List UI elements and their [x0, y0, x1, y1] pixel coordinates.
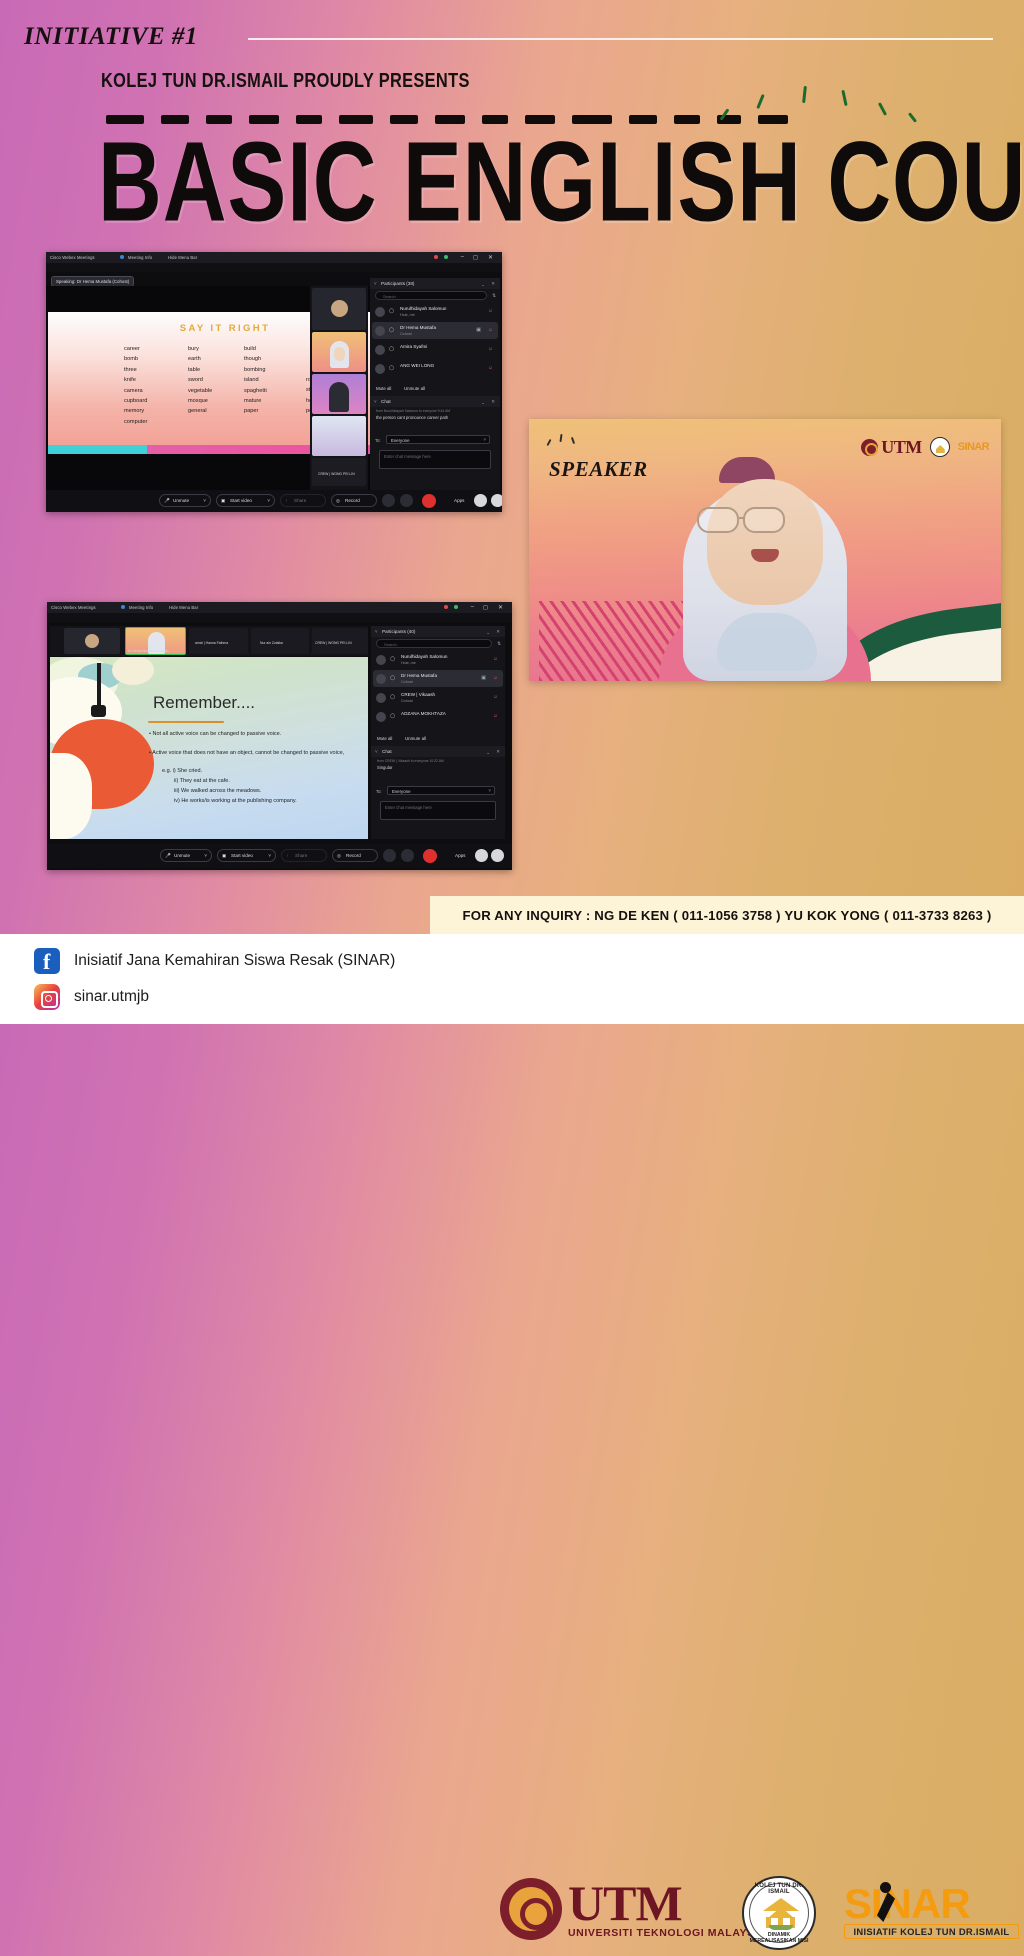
wx1-thumb-3[interactable]	[312, 374, 366, 414]
close-panel-icon[interactable]: ✕	[496, 629, 500, 635]
avatar	[375, 307, 385, 317]
wx1-search-placeholder: Search	[383, 294, 396, 299]
avatar	[375, 326, 385, 336]
wx1-thumb-1[interactable]	[312, 288, 366, 330]
slide1-word: earth	[188, 354, 212, 364]
wx1-titlebar: Cisco Webex Meetings Meeting Info Hide M…	[46, 252, 502, 263]
participant-name: CREW | Vikaash	[401, 692, 435, 697]
popout-icon[interactable]: ⎵	[482, 399, 484, 404]
wx1-window-title: Cisco Webex Meetings	[50, 255, 95, 260]
facebook-handle: Inisiatif Jana Kemahiran Siswa Resak (SI…	[74, 952, 395, 970]
wx1-participants-title: Participants (38)	[381, 281, 414, 286]
chevron-down-icon[interactable]: ˅	[374, 281, 377, 286]
participant-name: Amira Syafmi	[400, 344, 427, 349]
mic-muted-icon: ☺	[493, 656, 498, 662]
wx2-to-label: To:	[376, 789, 382, 794]
wx2-record-dot-icon	[444, 605, 448, 609]
participant-name: Nurulhidayah Salomun	[400, 306, 446, 311]
chevron-down-icon[interactable]: ˅	[267, 498, 270, 503]
chevron-down-icon: ˅	[483, 437, 486, 442]
wx1-leave-button[interactable]	[422, 494, 436, 508]
page-title: BASIC ENGLISH COURSE	[98, 126, 1024, 239]
raise-hand-icon: ◯	[389, 308, 394, 314]
wx2-thumb-4-caption: Nur ain Zulaika	[260, 641, 283, 645]
raise-hand-icon: ◯	[389, 365, 394, 371]
slide2-blob-cream2	[112, 657, 154, 685]
slide1-word: mosque	[188, 396, 212, 406]
wx2-chat-header: ˅ Chat ⎵ ✕	[371, 746, 505, 757]
instagram-icon[interactable]	[34, 984, 60, 1010]
wx2-more-button[interactable]	[401, 849, 414, 862]
wx2-record-button[interactable]: ◎ Record	[332, 849, 378, 862]
slide1-column-3: buildthoughbombingislandspaghettimaturep…	[244, 344, 267, 417]
slide2-blob-white2	[50, 753, 92, 839]
spark-decoration	[715, 82, 915, 134]
popout-icon[interactable]: ⎵	[482, 281, 484, 286]
initiative-label: INITIATIVE #1	[24, 23, 198, 51]
wx2-recipient-select[interactable]: Everyone ˅	[387, 786, 495, 795]
raise-hand-icon: ◯	[390, 713, 395, 719]
footer: Inisiatif Jana Kemahiran Siswa Resak (SI…	[0, 934, 1024, 1024]
microphone-icon: 🎤	[164, 498, 170, 504]
slide2-bullet-1: • Not all active voice can be changed to…	[149, 730, 359, 738]
raise-hand-icon: ◯	[389, 346, 394, 352]
participant-role: Cohost	[401, 680, 413, 684]
minimize-icon[interactable]: –	[461, 254, 464, 260]
wx2-participants-title: Participants (40)	[382, 629, 415, 634]
wx2-window-title: Cisco Webex Meetings	[51, 605, 96, 610]
wx2-chat-input-placeholder: Enter chat message here	[385, 805, 432, 810]
wx1-chat-header: ˅ Chat ⎵ ✕	[370, 396, 500, 407]
inquiry-bar: FOR ANY INQUIRY : NG DE KEN ( 011-1056 3…	[430, 896, 1024, 934]
chevron-down-icon: ˅	[488, 788, 491, 793]
wx2-thumb-5[interactable]: CREW | WONG PEI LIN	[312, 628, 368, 654]
inquiry-text: FOR ANY INQUIRY : NG DE KEN ( 011-1056 3…	[462, 908, 991, 923]
speaker-card: SPEAKER UTM SINAR	[529, 419, 1001, 681]
presents-line: KOLEJ TUN DR.ISMAIL PROUDLY PRESENTS	[101, 70, 470, 93]
chevron-down-icon[interactable]: ˅	[375, 629, 378, 634]
wx2-thumb-1[interactable]	[64, 628, 120, 654]
wx2-participants-button[interactable]	[475, 849, 488, 862]
spark-5	[878, 102, 887, 116]
slide1-word: though	[244, 354, 267, 364]
wx2-search-input[interactable]: Search	[376, 639, 492, 648]
instagram-handle: sinar.utmjb	[74, 988, 149, 1006]
wx2-side-panel: ˅ Participants (40) ⎵ ✕ Search ⇅ ◯Nurulh…	[371, 626, 505, 839]
wx2-thumb-5-caption: CREW | WONG PEI LIN	[315, 641, 352, 645]
utm-logo-small: UTM	[861, 437, 922, 458]
sinar-tagline: INISIATIF KOLEJ TUN DR.ISMAIL	[844, 1924, 1019, 1939]
close-panel-icon[interactable]: ✕	[491, 281, 495, 287]
slide1-word: memory	[124, 406, 147, 416]
spark-tick-2	[559, 434, 562, 442]
wx2-menubar	[47, 613, 512, 622]
wx2-thumb-2-active[interactable]: Dr Hema Mustafa (Cohost)	[125, 627, 186, 655]
wx2-thumb-3[interactable]: amizi | Hanna Fathma	[189, 628, 248, 654]
eyeglasses-left-icon	[697, 507, 739, 533]
wx1-record-dot-icon	[434, 255, 438, 259]
eyeglasses-bridge	[739, 517, 745, 519]
wx2-toolbar: 🎤 Unmute ˅ ▣ Start video ˅ ↑ Share ◎ Rec…	[47, 844, 512, 868]
slide2-stick-base	[91, 705, 106, 717]
avatar	[376, 674, 386, 684]
wx2-start-video-button[interactable]: ▣ Start video ˅	[217, 849, 276, 862]
wx1-meeting-info[interactable]: Meeting Info	[128, 255, 152, 260]
camera-icon: ▣	[222, 853, 226, 859]
participant-role: Cohost	[400, 332, 412, 336]
speaker-label: SPEAKER	[549, 457, 648, 482]
utm-subtitle: UNIVERSITI TEKNOLOGI MALAYSIA	[568, 1927, 766, 1939]
slide2-example-1: e.g. i) She cried.	[162, 767, 202, 775]
slide2-example-3: iii) We walked across the meadows.	[174, 787, 261, 795]
eyeglasses-right-icon	[743, 507, 785, 533]
wx1-hide-menu-bar[interactable]: Hide Menu Bar	[168, 255, 197, 260]
mic-muted-icon: ☺	[493, 713, 498, 719]
slide1-word: paper	[244, 406, 267, 416]
wx2-reactions-button[interactable]	[383, 849, 396, 862]
wx1-apps-button[interactable]: Apps	[454, 498, 464, 503]
mic-muted-icon: ☺	[493, 675, 498, 681]
wx1-chat-title: Chat	[381, 399, 391, 404]
slide1-word: bury	[188, 344, 212, 354]
wx1-chat-message: the person cant pronounce career path	[376, 415, 491, 421]
wx1-chat-button[interactable]	[491, 494, 502, 507]
participant-role: Host, me	[400, 313, 415, 317]
slide1-word: vegetable	[188, 386, 212, 396]
mic-muted-icon: ☺	[488, 346, 493, 352]
slide1-word: table	[188, 365, 212, 375]
wx1-reactions-button[interactable]	[382, 494, 395, 507]
popout-icon[interactable]: ⎵	[487, 629, 489, 634]
wx2-share-button[interactable]: ↑ Share	[281, 849, 327, 862]
wx1-recipient-select[interactable]: Everyone ˅	[386, 435, 490, 444]
slide1-word: island	[244, 375, 267, 385]
sinar-logo: SINAR INISIATIF KOLEJ TUN DR.ISMAIL	[844, 1884, 1019, 1942]
video-icon: ▣	[481, 675, 486, 681]
wx1-record-button[interactable]: ◎ Record	[331, 494, 377, 507]
wx2-chat-input[interactable]: Enter chat message here	[380, 801, 496, 820]
participant-name: ANG WEI LONG	[400, 363, 434, 368]
raise-hand-icon: ◯	[390, 656, 395, 662]
chevron-down-icon[interactable]: ˅	[374, 399, 377, 404]
slide1-column-1: careerbombthreeknifecameracupboardmemory…	[124, 344, 147, 427]
wx1-menubar	[46, 263, 502, 272]
wx2-status-dot-icon	[454, 605, 458, 609]
slide1-word: computer	[124, 417, 147, 427]
participant-name: ADZANA MOKHTAZA	[401, 711, 446, 716]
slide1-word: three	[124, 365, 147, 375]
wx2-chat-meta: from CREW | Vikaash to everyone 10:22 AM	[377, 759, 444, 763]
wx1-mute-all-button[interactable]: Mute all	[376, 386, 391, 391]
participant-row[interactable]: ◯Nurulhidayah SalomunHost, me☺	[372, 303, 498, 320]
spark-3	[802, 86, 807, 103]
wx1-chat-meta: from Nurulhidayah Salomun to everyone 9:…	[376, 409, 450, 413]
wx1-participants-header: ˅ Participants (38) ⎵ ✕	[370, 278, 500, 289]
ktdi-book-icon	[769, 1925, 793, 1930]
video-icon: ▣	[476, 327, 481, 333]
wx2-meeting-info[interactable]: Meeting Info	[129, 605, 153, 610]
speaker-scarf	[717, 613, 817, 671]
speaker-portrait	[659, 451, 871, 681]
wx1-chat-input[interactable]: Enter chat message here	[379, 450, 491, 469]
camera-icon: ▣	[221, 498, 225, 504]
utm-seal-icon	[861, 439, 878, 456]
instagram-row[interactable]: sinar.utmjb	[34, 984, 149, 1010]
minimize-icon[interactable]: –	[471, 604, 474, 610]
header-rule	[248, 38, 993, 40]
webex-screenshot-2: Cisco Webex Meetings Meeting Info Hide M…	[47, 602, 512, 870]
utm-wordmark-small: UTM	[881, 437, 922, 458]
slide2-example-4: iv) He works/is working at the publishin…	[174, 797, 362, 805]
wx2-thumb-2-caption: Dr Hema Mustafa (Cohost)	[128, 649, 169, 653]
participant-name: Dr Hema Mustafa	[401, 673, 437, 678]
wx1-video-rail: CREW | WONG PEI LIN	[310, 286, 368, 490]
slide1-word: build	[244, 344, 267, 354]
participant-role: Host, me	[401, 661, 416, 665]
chevron-down-icon[interactable]: ˅	[268, 853, 271, 858]
close-panel-icon[interactable]: ✕	[496, 749, 500, 755]
close-icon[interactable]: ✕	[488, 254, 493, 261]
slide1-word: spaghetti	[244, 386, 267, 396]
participant-row[interactable]: ◯Amira Syafmi☺	[372, 341, 498, 358]
wx1-search-input[interactable]: Search	[375, 291, 487, 300]
webex-screenshot-1: Cisco Webex Meetings Meeting Info Hide M…	[46, 252, 502, 512]
sinar-wordmark: SINAR	[844, 1884, 1019, 1924]
wx2-chat-title: Chat	[382, 749, 392, 754]
mic-muted-icon: ☺	[488, 327, 493, 333]
slide1-word: career	[124, 344, 147, 354]
slide2-stick	[97, 663, 101, 711]
slide1-word: sword	[188, 375, 212, 385]
spark-4	[841, 90, 847, 106]
wx2-hide-menu-bar[interactable]: Hide Menu Bar	[169, 605, 198, 610]
record-icon: ◎	[336, 498, 340, 504]
wx1-info-icon	[120, 255, 124, 259]
utm-seal-icon	[500, 1878, 562, 1940]
sort-icon[interactable]: ⇅	[492, 293, 496, 299]
wx1-unmute-all-button[interactable]: Unmute all	[404, 386, 425, 391]
mic-muted-icon: ☺	[488, 308, 493, 314]
speaker-mouth	[751, 549, 779, 562]
ktdi-top-text: KOLEJ TUN DR. ISMAIL	[744, 1883, 814, 1895]
slide1-word: knife	[124, 375, 147, 385]
slide1-column-2: buryearthtableswordvegetablemosquegenera…	[188, 344, 212, 417]
wx1-thumb-5[interactable]: CREW | WONG PEI LIN	[312, 458, 366, 486]
participant-row[interactable]: ◯Dr Hema MustafaCohost▣☺	[372, 322, 498, 339]
slide1-word: camera	[124, 386, 147, 396]
wx2-chat-message: Singular	[377, 765, 495, 771]
wx1-to-label: To:	[375, 438, 381, 443]
wx1-participants-button[interactable]	[474, 494, 487, 507]
popout-icon[interactable]: ⎵	[487, 749, 489, 754]
spark-tick-1	[546, 439, 551, 446]
avatar	[376, 712, 386, 722]
ktdi-house-icon	[763, 1898, 799, 1928]
raise-hand-icon: ◯	[389, 327, 394, 333]
participant-row[interactable]: ◯ADZANA MOKHTAZA☺	[373, 708, 503, 725]
sort-icon[interactable]: ⇅	[497, 641, 501, 647]
avatar	[376, 693, 386, 703]
poster-header: INITIATIVE #1 KOLEJ TUN DR.ISMAIL PROUDL…	[0, 0, 1024, 250]
wx2-participants-header: ˅ Participants (40) ⎵ ✕	[371, 626, 505, 637]
spark-tick-3	[571, 437, 575, 444]
chevron-down-icon[interactable]: ˅	[375, 749, 378, 754]
utm-logo: UTM UNIVERSITI TEKNOLOGI MALAYSIA	[500, 1878, 766, 1940]
wx2-unmute-button[interactable]: 🎤 Unmute ˅	[160, 849, 212, 862]
close-icon[interactable]: ✕	[498, 604, 503, 611]
wx2-search-placeholder: Search	[384, 642, 397, 647]
slide2-bullet-2: • Active voice that does not have an obj…	[149, 749, 359, 757]
wx1-recipient-value: Everyone	[391, 438, 410, 443]
share-icon: ↑	[286, 853, 288, 858]
wx2-shared-slide: Remember.... • Not all active voice can …	[50, 657, 368, 839]
wx2-recipient-value: Everyone	[392, 789, 411, 794]
ktdi-bottom-text: DINAMIK MEREALISASIKAN MISI	[744, 1932, 814, 1944]
ktdi-seal-icon-small	[930, 437, 950, 457]
facebook-icon[interactable]	[34, 948, 60, 974]
spark-1	[720, 108, 730, 120]
speaker-face	[707, 479, 823, 605]
wx2-thumb-4[interactable]: Nur ain Zulaika	[251, 628, 309, 654]
record-icon: ◎	[337, 853, 341, 859]
slide1-word: mature	[244, 396, 267, 406]
wx2-info-icon	[121, 605, 125, 609]
speaker-card-logos: UTM SINAR	[861, 435, 989, 459]
chevron-down-icon[interactable]: ˅	[204, 853, 207, 858]
share-icon: ↑	[285, 498, 287, 503]
wx1-thumb-2-speaker[interactable]	[312, 332, 366, 372]
avatar	[375, 364, 385, 374]
utm-wordmark: UTM	[568, 1879, 766, 1927]
slide1-word: bombing	[244, 365, 267, 375]
wx2-unmute-all-button[interactable]: Unmute all	[405, 736, 426, 741]
slide2-rule	[148, 721, 224, 723]
microphone-icon: 🎤	[165, 853, 171, 859]
mic-muted-icon: ☺	[488, 365, 493, 371]
wx1-toolbar: 🎤 Unmute ˅ ▣ Start video ˅ ↑ Share ◎ Rec…	[46, 490, 502, 512]
facebook-row[interactable]: Inisiatif Jana Kemahiran Siswa Resak (SI…	[34, 948, 395, 974]
wx2-leave-button[interactable]	[423, 849, 437, 863]
wx2-chat-button[interactable]	[491, 849, 504, 862]
participant-role: Cohost	[401, 699, 413, 703]
slide2-example-2: ii) They eat at the cafe.	[174, 777, 230, 785]
participant-row[interactable]: ◯ANG WEI LONG☺	[372, 360, 498, 377]
mic-muted-icon: ☺	[493, 694, 498, 700]
wx2-mute-all-button[interactable]: Mute all	[377, 736, 392, 741]
raise-hand-icon: ◯	[390, 675, 395, 681]
wx2-apps-button[interactable]: Apps	[455, 853, 465, 858]
wx1-more-button[interactable]	[400, 494, 413, 507]
close-panel-icon[interactable]: ✕	[491, 399, 495, 405]
sinar-wordmark-small: SINAR	[958, 441, 989, 453]
slide2-title: Remember....	[153, 693, 255, 713]
avatar	[376, 655, 386, 665]
wx1-status-dot-icon	[444, 255, 448, 259]
wx1-thumb-5-caption: CREW | WONG PEI LIN	[318, 472, 355, 476]
spark-2	[756, 94, 764, 109]
slide1-word: cupboard	[124, 396, 147, 406]
wx2-thumb-strip: Dr Hema Mustafa (Cohost) amizi | Hanna F…	[50, 626, 368, 656]
footer-logos: UTM UNIVERSITI TEKNOLOGI MALAYSIA KOLEJ …	[492, 1872, 1024, 1956]
ktdi-logo: KOLEJ TUN DR. ISMAIL DINAMIK MEREALISASI…	[742, 1876, 816, 1950]
wx1-start-video-button[interactable]: ▣ Start video ˅	[216, 494, 275, 507]
participant-name: Dr Hema Mustafa	[400, 325, 436, 330]
maximize-icon[interactable]: ◻	[473, 254, 478, 261]
wx2-thumb-3-caption: amizi | Hanna Fathma	[195, 641, 228, 645]
wx1-thumb-4[interactable]	[312, 416, 366, 456]
participant-name: Nurulhidayah Salomun	[401, 654, 447, 659]
wx2-titlebar: Cisco Webex Meetings Meeting Info Hide M…	[47, 602, 512, 613]
wx1-chat-input-placeholder: Enter chat message here	[384, 454, 431, 459]
slide1-word: bomb	[124, 354, 147, 364]
maximize-icon[interactable]: ◻	[483, 604, 488, 611]
wx1-side-panel: ˅ Participants (38) ⎵ ✕ Search ⇅ ◯Nurulh…	[370, 278, 500, 490]
slide1-word: general	[188, 406, 212, 416]
participant-row[interactable]: ◯CREW | VikaashCohost☺	[373, 689, 503, 706]
chevron-down-icon[interactable]: ˅	[203, 498, 206, 503]
sinar-figure-head-icon	[880, 1882, 891, 1893]
raise-hand-icon: ◯	[390, 694, 395, 700]
wx1-share-button[interactable]: ↑ Share	[280, 494, 326, 507]
participant-row[interactable]: ◯Dr Hema MustafaCohost▣☺	[373, 670, 503, 687]
avatar	[375, 345, 385, 355]
spark-6	[908, 112, 917, 123]
wx1-unmute-button[interactable]: 🎤 Unmute ˅	[159, 494, 211, 507]
participant-row[interactable]: ◯Nurulhidayah SalomunHost, me☺	[373, 651, 503, 668]
